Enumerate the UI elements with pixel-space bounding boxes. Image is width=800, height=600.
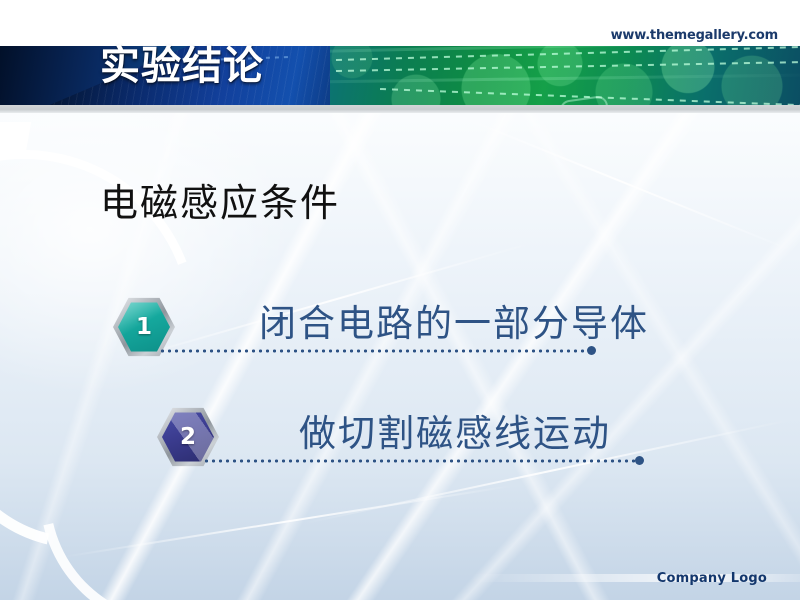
company-logo: Company Logo: [657, 571, 767, 586]
dotted-connector-endpoint: [635, 456, 644, 465]
slide: 实验结论 www.themegallery.com 电磁感应条件 1 闭合电路的…: [0, 0, 800, 600]
list-item-label: 做切割磁感线运动: [299, 403, 611, 457]
dotted-connector: [203, 459, 635, 463]
list-item-label: 闭合电路的一部分导体: [259, 293, 649, 347]
header-divider: [0, 105, 800, 113]
dotted-connector-endpoint: [587, 346, 596, 355]
dotted-connector: [159, 349, 587, 353]
section-heading: 电磁感应条件: [100, 172, 340, 227]
site-url: www.themegallery.com: [611, 28, 778, 43]
page-title: 实验结论: [100, 45, 264, 87]
